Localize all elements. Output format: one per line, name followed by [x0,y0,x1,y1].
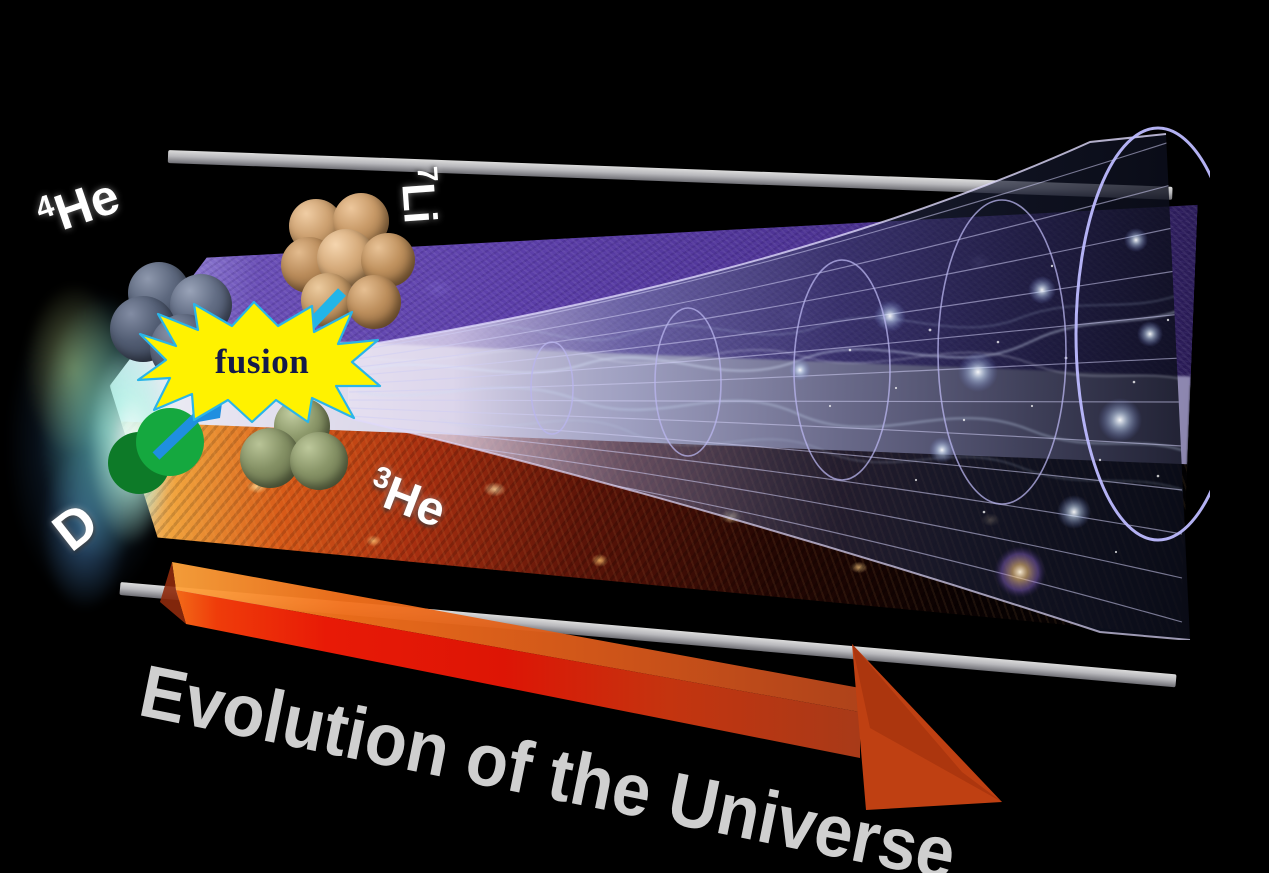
element-symbol: Li [392,181,447,225]
fusion-label: fusion [136,300,382,424]
nucleon [290,432,348,490]
figure-canvas: fusion 4He D 7Li 3He [0,0,1269,873]
fusion-burst: fusion [136,300,382,424]
isotope-label-li7: 7Li [390,165,448,225]
